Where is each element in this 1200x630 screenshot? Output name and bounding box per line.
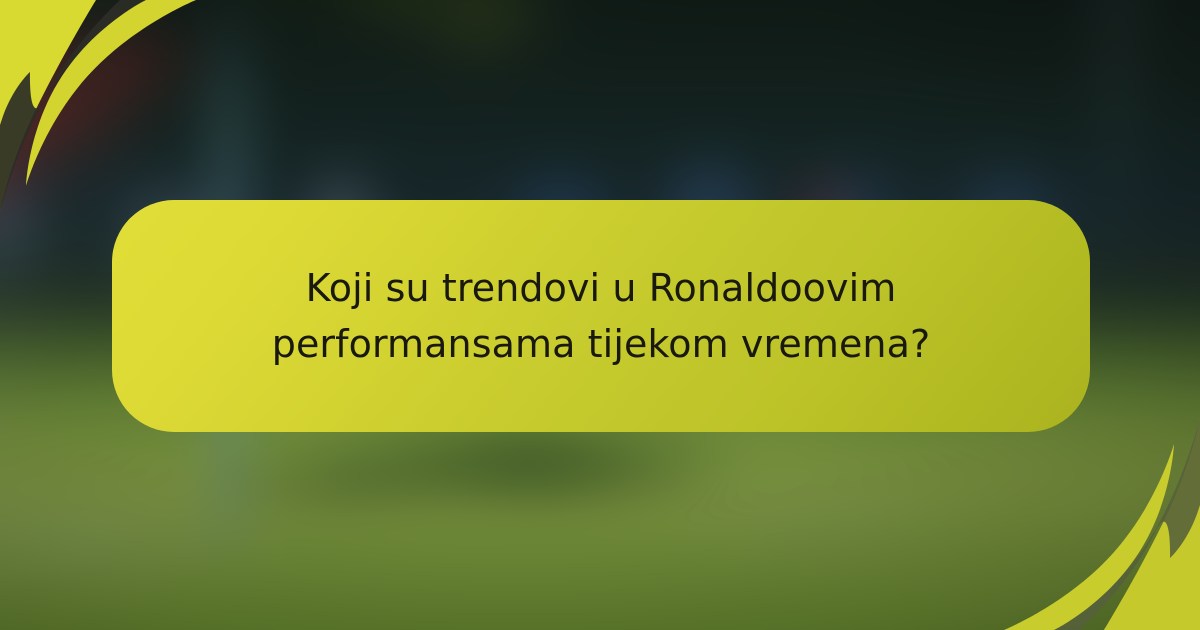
question-text: Koji su trendovi u Ronaldoovim performan… (112, 260, 1090, 372)
poster-canvas: Koji su trendovi u Ronaldoovim performan… (0, 0, 1200, 630)
question-line-2: performansama tijekom vremena? (154, 316, 1048, 372)
question-line-1: Koji su trendovi u Ronaldoovim (154, 260, 1048, 316)
question-card: Koji su trendovi u Ronaldoovim performan… (112, 200, 1090, 432)
